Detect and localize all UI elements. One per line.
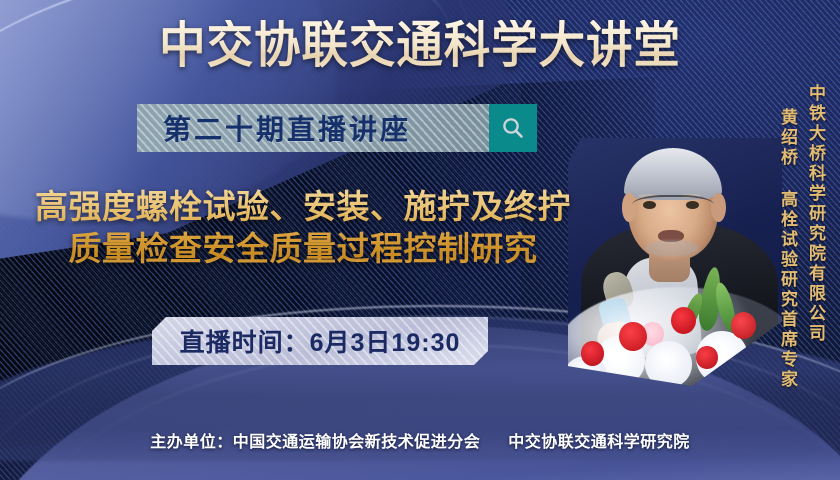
episode-bar: 第二十期直播讲座 xyxy=(137,104,537,152)
livestream-promo-poster: 中交协联交通科学大讲堂 第二十期直播讲座 高强度螺栓试验、安装、施拧及终拧 质量… xyxy=(0,0,840,480)
search-icon-box[interactable] xyxy=(489,104,537,152)
photo-eye-left xyxy=(643,201,656,209)
lecture-heading: 高强度螺栓试验、安装、施拧及终拧 质量检查安全质量过程控制研究 xyxy=(12,186,594,269)
poster-title: 中交协联交通科学大讲堂 xyxy=(29,20,810,70)
photo-chin-highlight xyxy=(645,240,699,257)
photo-red-carnation xyxy=(731,312,757,339)
lecture-heading-line1: 高强度螺栓试验、安装、施拧及终拧 xyxy=(35,188,571,225)
photo-red-carnation xyxy=(696,346,717,368)
photo-eye-right xyxy=(686,201,699,209)
speaker-name-role: 黄绍桥 高栓试验研究首席专家 xyxy=(779,108,796,390)
footer-band xyxy=(0,368,840,480)
lecture-heading-line2: 质量检查安全质量过程控制研究 xyxy=(12,228,594,270)
photo-red-carnation xyxy=(671,307,697,334)
broadcast-time-label: 直播时间：6月3日19:30 xyxy=(180,323,461,359)
footer-organizer-2: 中交协联交通科学研究院 xyxy=(508,434,690,451)
broadcast-time-badge: 直播时间：6月3日19:30 xyxy=(152,317,488,365)
episode-bar-body: 第二十期直播讲座 xyxy=(137,104,489,152)
episode-label: 第二十期直播讲座 xyxy=(163,108,463,148)
footer-organizer-label: 主办单位： xyxy=(150,434,233,451)
speaker-organization: 中铁大桥科学研究院有限公司 xyxy=(807,84,824,344)
footer-organizer-1: 中国交通运输协会新技术促进分会 xyxy=(233,434,481,451)
search-icon xyxy=(500,115,526,141)
footer-organizers: 主办单位：中国交通运输协会新技术促进分会中交协联交通科学研究院 xyxy=(0,428,840,452)
